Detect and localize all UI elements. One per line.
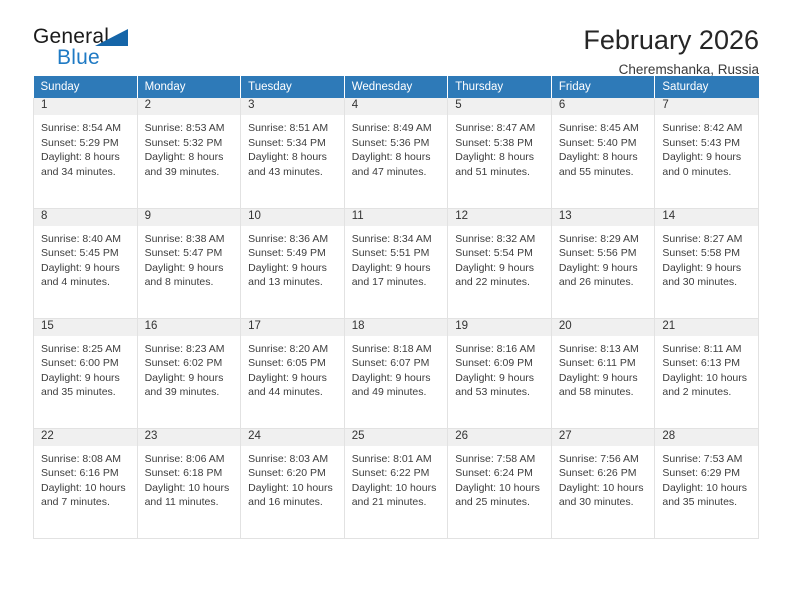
- daylight-text-line2: and 4 minutes.: [41, 275, 130, 290]
- sunset-text: Sunset: 6:18 PM: [145, 466, 234, 481]
- sunset-text: Sunset: 6:11 PM: [559, 356, 648, 371]
- sunrise-text: Sunrise: 8:40 AM: [41, 232, 130, 247]
- daylight-text-line2: and 7 minutes.: [41, 495, 130, 510]
- title-block: February 2026 Cheremshanka, Russia: [583, 26, 759, 77]
- day-number: 23: [138, 429, 241, 446]
- daylight-text-line1: Daylight: 9 hours: [559, 371, 648, 386]
- day-number: 3: [241, 98, 344, 115]
- day-cell[interactable]: 15 Sunrise: 8:25 AM Sunset: 6:00 PM Dayl…: [34, 318, 138, 428]
- sunrise-text: Sunrise: 7:56 AM: [559, 452, 648, 467]
- sunset-text: Sunset: 6:29 PM: [662, 466, 751, 481]
- day-details: Sunrise: 8:51 AM Sunset: 5:34 PM Dayligh…: [241, 115, 344, 179]
- daylight-text-line2: and 35 minutes.: [662, 495, 751, 510]
- day-number: 9: [138, 209, 241, 226]
- weekday-header-tuesday: Tuesday: [241, 76, 345, 98]
- day-number: 14: [655, 209, 758, 226]
- day-number: 10: [241, 209, 344, 226]
- day-details: Sunrise: 8:23 AM Sunset: 6:02 PM Dayligh…: [138, 336, 241, 400]
- sunset-text: Sunset: 6:22 PM: [352, 466, 441, 481]
- day-number: 25: [345, 429, 448, 446]
- daylight-text-line2: and 11 minutes.: [145, 495, 234, 510]
- daylight-text-line1: Daylight: 10 hours: [352, 481, 441, 496]
- day-cell[interactable]: 4 Sunrise: 8:49 AM Sunset: 5:36 PM Dayli…: [344, 98, 448, 208]
- day-details: Sunrise: 8:06 AM Sunset: 6:18 PM Dayligh…: [138, 446, 241, 510]
- calendar-page: General Blue February 2026 Cheremshanka,…: [0, 0, 792, 612]
- sunrise-text: Sunrise: 8:34 AM: [352, 232, 441, 247]
- sunset-text: Sunset: 5:40 PM: [559, 136, 648, 151]
- daylight-text-line2: and 44 minutes.: [248, 385, 337, 400]
- daylight-text-line1: Daylight: 8 hours: [455, 150, 544, 165]
- sunrise-text: Sunrise: 8:45 AM: [559, 121, 648, 136]
- daylight-text-line1: Daylight: 9 hours: [455, 261, 544, 276]
- daylight-text-line1: Daylight: 9 hours: [352, 261, 441, 276]
- calendar-week-row: 1 Sunrise: 8:54 AM Sunset: 5:29 PM Dayli…: [34, 98, 759, 208]
- logo-text-blue: Blue: [57, 47, 100, 68]
- sunrise-text: Sunrise: 8:42 AM: [662, 121, 751, 136]
- sunrise-text: Sunrise: 8:51 AM: [248, 121, 337, 136]
- general-blue-logo[interactable]: General Blue: [33, 26, 153, 72]
- day-cell[interactable]: 13 Sunrise: 8:29 AM Sunset: 5:56 PM Dayl…: [551, 208, 655, 318]
- sunset-text: Sunset: 6:26 PM: [559, 466, 648, 481]
- day-cell[interactable]: 21 Sunrise: 8:11 AM Sunset: 6:13 PM Dayl…: [655, 318, 759, 428]
- day-number: 15: [34, 319, 137, 336]
- daylight-text-line2: and 13 minutes.: [248, 275, 337, 290]
- sunset-text: Sunset: 5:29 PM: [41, 136, 130, 151]
- daylight-text-line1: Daylight: 8 hours: [145, 150, 234, 165]
- sunrise-text: Sunrise: 8:53 AM: [145, 121, 234, 136]
- page-title: February 2026: [583, 26, 759, 56]
- sunset-text: Sunset: 6:24 PM: [455, 466, 544, 481]
- day-number: 20: [552, 319, 655, 336]
- daylight-text-line2: and 53 minutes.: [455, 385, 544, 400]
- sunset-text: Sunset: 6:16 PM: [41, 466, 130, 481]
- daylight-text-line1: Daylight: 10 hours: [559, 481, 648, 496]
- weekday-header-monday: Monday: [137, 76, 241, 98]
- sunrise-text: Sunrise: 8:06 AM: [145, 452, 234, 467]
- weekday-header-saturday: Saturday: [655, 76, 759, 98]
- calendar-week-row: 22 Sunrise: 8:08 AM Sunset: 6:16 PM Dayl…: [34, 428, 759, 538]
- day-cell[interactable]: 23 Sunrise: 8:06 AM Sunset: 6:18 PM Dayl…: [137, 428, 241, 538]
- weekday-header-thursday: Thursday: [448, 76, 552, 98]
- day-number: 22: [34, 429, 137, 446]
- weekday-header-row: Sunday Monday Tuesday Wednesday Thursday…: [34, 76, 759, 98]
- day-number: 16: [138, 319, 241, 336]
- sunrise-text: Sunrise: 8:36 AM: [248, 232, 337, 247]
- daylight-text-line2: and 17 minutes.: [352, 275, 441, 290]
- daylight-text-line2: and 21 minutes.: [352, 495, 441, 510]
- sunset-text: Sunset: 6:07 PM: [352, 356, 441, 371]
- daylight-text-line1: Daylight: 9 hours: [662, 150, 751, 165]
- day-details: Sunrise: 8:54 AM Sunset: 5:29 PM Dayligh…: [34, 115, 137, 179]
- day-number: 1: [34, 98, 137, 115]
- daylight-text-line2: and 51 minutes.: [455, 165, 544, 180]
- sunrise-text: Sunrise: 8:03 AM: [248, 452, 337, 467]
- day-details: Sunrise: 8:11 AM Sunset: 6:13 PM Dayligh…: [655, 336, 758, 400]
- sunrise-text: Sunrise: 8:29 AM: [559, 232, 648, 247]
- sunrise-text: Sunrise: 8:18 AM: [352, 342, 441, 357]
- sunset-text: Sunset: 5:58 PM: [662, 246, 751, 261]
- daylight-text-line1: Daylight: 10 hours: [248, 481, 337, 496]
- day-details: Sunrise: 8:29 AM Sunset: 5:56 PM Dayligh…: [552, 226, 655, 290]
- sunrise-text: Sunrise: 8:49 AM: [352, 121, 441, 136]
- day-number: 6: [552, 98, 655, 115]
- day-details: Sunrise: 8:47 AM Sunset: 5:38 PM Dayligh…: [448, 115, 551, 179]
- daylight-text-line1: Daylight: 9 hours: [248, 371, 337, 386]
- day-cell[interactable]: 22 Sunrise: 8:08 AM Sunset: 6:16 PM Dayl…: [34, 428, 138, 538]
- daylight-text-line2: and 39 minutes.: [145, 165, 234, 180]
- sunrise-text: Sunrise: 8:38 AM: [145, 232, 234, 247]
- weekday-header-wednesday: Wednesday: [344, 76, 448, 98]
- page-header: General Blue February 2026 Cheremshanka,…: [33, 0, 759, 72]
- daylight-text-line2: and 30 minutes.: [559, 495, 648, 510]
- sunrise-text: Sunrise: 8:25 AM: [41, 342, 130, 357]
- day-details: Sunrise: 8:40 AM Sunset: 5:45 PM Dayligh…: [34, 226, 137, 290]
- day-cell[interactable]: 16 Sunrise: 8:23 AM Sunset: 6:02 PM Dayl…: [137, 318, 241, 428]
- day-details: Sunrise: 8:13 AM Sunset: 6:11 PM Dayligh…: [552, 336, 655, 400]
- day-number: 17: [241, 319, 344, 336]
- day-cell[interactable]: 27 Sunrise: 7:56 AM Sunset: 6:26 PM Dayl…: [551, 428, 655, 538]
- sunset-text: Sunset: 6:20 PM: [248, 466, 337, 481]
- daylight-text-line2: and 34 minutes.: [41, 165, 130, 180]
- day-number: 5: [448, 98, 551, 115]
- sunrise-text: Sunrise: 8:47 AM: [455, 121, 544, 136]
- day-cell[interactable]: 8 Sunrise: 8:40 AM Sunset: 5:45 PM Dayli…: [34, 208, 138, 318]
- sunset-text: Sunset: 5:43 PM: [662, 136, 751, 151]
- sunset-text: Sunset: 5:51 PM: [352, 246, 441, 261]
- day-details: Sunrise: 8:18 AM Sunset: 6:07 PM Dayligh…: [345, 336, 448, 400]
- day-cell[interactable]: 9 Sunrise: 8:38 AM Sunset: 5:47 PM Dayli…: [137, 208, 241, 318]
- sunset-text: Sunset: 6:09 PM: [455, 356, 544, 371]
- sunset-text: Sunset: 5:45 PM: [41, 246, 130, 261]
- day-cell[interactable]: 17 Sunrise: 8:20 AM Sunset: 6:05 PM Dayl…: [241, 318, 345, 428]
- sunset-text: Sunset: 5:32 PM: [145, 136, 234, 151]
- sunrise-text: Sunrise: 8:23 AM: [145, 342, 234, 357]
- daylight-text-line2: and 8 minutes.: [145, 275, 234, 290]
- daylight-text-line2: and 58 minutes.: [559, 385, 648, 400]
- sunset-text: Sunset: 6:13 PM: [662, 356, 751, 371]
- day-details: Sunrise: 8:34 AM Sunset: 5:51 PM Dayligh…: [345, 226, 448, 290]
- day-cell[interactable]: 18 Sunrise: 8:18 AM Sunset: 6:07 PM Dayl…: [344, 318, 448, 428]
- sunset-text: Sunset: 5:54 PM: [455, 246, 544, 261]
- calendar-body: 1 Sunrise: 8:54 AM Sunset: 5:29 PM Dayli…: [34, 98, 759, 538]
- sunrise-text: Sunrise: 8:32 AM: [455, 232, 544, 247]
- daylight-text-line1: Daylight: 9 hours: [455, 371, 544, 386]
- day-number: 8: [34, 209, 137, 226]
- day-number: 27: [552, 429, 655, 446]
- logo-triangle-icon: [95, 29, 128, 46]
- daylight-text-line1: Daylight: 9 hours: [662, 261, 751, 276]
- sunset-text: Sunset: 5:36 PM: [352, 136, 441, 151]
- day-details: Sunrise: 8:53 AM Sunset: 5:32 PM Dayligh…: [138, 115, 241, 179]
- day-details: Sunrise: 8:38 AM Sunset: 5:47 PM Dayligh…: [138, 226, 241, 290]
- day-number: 12: [448, 209, 551, 226]
- day-number: 24: [241, 429, 344, 446]
- day-cell[interactable]: 26 Sunrise: 7:58 AM Sunset: 6:24 PM Dayl…: [448, 428, 552, 538]
- sunrise-text: Sunrise: 7:58 AM: [455, 452, 544, 467]
- daylight-text-line2: and 25 minutes.: [455, 495, 544, 510]
- sunrise-text: Sunrise: 7:53 AM: [662, 452, 751, 467]
- day-number: 13: [552, 209, 655, 226]
- sunset-text: Sunset: 5:49 PM: [248, 246, 337, 261]
- day-number: 28: [655, 429, 758, 446]
- daylight-text-line2: and 0 minutes.: [662, 165, 751, 180]
- daylight-text-line2: and 49 minutes.: [352, 385, 441, 400]
- daylight-text-line1: Daylight: 9 hours: [145, 261, 234, 276]
- calendar-week-row: 8 Sunrise: 8:40 AM Sunset: 5:45 PM Dayli…: [34, 208, 759, 318]
- daylight-text-line1: Daylight: 9 hours: [248, 261, 337, 276]
- sunrise-text: Sunrise: 8:01 AM: [352, 452, 441, 467]
- day-cell[interactable]: 20 Sunrise: 8:13 AM Sunset: 6:11 PM Dayl…: [551, 318, 655, 428]
- day-cell[interactable]: 5 Sunrise: 8:47 AM Sunset: 5:38 PM Dayli…: [448, 98, 552, 208]
- day-number: 4: [345, 98, 448, 115]
- sunrise-text: Sunrise: 8:54 AM: [41, 121, 130, 136]
- sunrise-text: Sunrise: 8:27 AM: [662, 232, 751, 247]
- weekday-header-friday: Friday: [551, 76, 655, 98]
- day-cell[interactable]: 6 Sunrise: 8:45 AM Sunset: 5:40 PM Dayli…: [551, 98, 655, 208]
- daylight-text-line2: and 26 minutes.: [559, 275, 648, 290]
- daylight-text-line1: Daylight: 8 hours: [352, 150, 441, 165]
- daylight-text-line1: Daylight: 10 hours: [41, 481, 130, 496]
- location-subtitle: Cheremshanka, Russia: [583, 62, 759, 77]
- day-cell[interactable]: 28 Sunrise: 7:53 AM Sunset: 6:29 PM Dayl…: [655, 428, 759, 538]
- sunrise-text: Sunrise: 8:08 AM: [41, 452, 130, 467]
- sunset-text: Sunset: 6:00 PM: [41, 356, 130, 371]
- daylight-text-line2: and 55 minutes.: [559, 165, 648, 180]
- sunrise-text: Sunrise: 8:13 AM: [559, 342, 648, 357]
- day-details: Sunrise: 8:20 AM Sunset: 6:05 PM Dayligh…: [241, 336, 344, 400]
- daylight-text-line2: and 43 minutes.: [248, 165, 337, 180]
- day-details: Sunrise: 8:25 AM Sunset: 6:00 PM Dayligh…: [34, 336, 137, 400]
- daylight-text-line1: Daylight: 10 hours: [145, 481, 234, 496]
- daylight-text-line1: Daylight: 8 hours: [559, 150, 648, 165]
- daylight-text-line2: and 16 minutes.: [248, 495, 337, 510]
- calendar-week-row: 15 Sunrise: 8:25 AM Sunset: 6:00 PM Dayl…: [34, 318, 759, 428]
- daylight-text-line1: Daylight: 10 hours: [662, 481, 751, 496]
- sunrise-sunset-calendar: Sunday Monday Tuesday Wednesday Thursday…: [33, 76, 759, 539]
- daylight-text-line2: and 2 minutes.: [662, 385, 751, 400]
- sunrise-text: Sunrise: 8:11 AM: [662, 342, 751, 357]
- day-number: 26: [448, 429, 551, 446]
- sunset-text: Sunset: 5:38 PM: [455, 136, 544, 151]
- day-details: Sunrise: 8:45 AM Sunset: 5:40 PM Dayligh…: [552, 115, 655, 179]
- daylight-text-line1: Daylight: 10 hours: [455, 481, 544, 496]
- day-cell[interactable]: 3 Sunrise: 8:51 AM Sunset: 5:34 PM Dayli…: [241, 98, 345, 208]
- day-cell[interactable]: 24 Sunrise: 8:03 AM Sunset: 6:20 PM Dayl…: [241, 428, 345, 538]
- sunset-text: Sunset: 6:05 PM: [248, 356, 337, 371]
- day-details: Sunrise: 8:01 AM Sunset: 6:22 PM Dayligh…: [345, 446, 448, 510]
- day-details: Sunrise: 8:27 AM Sunset: 5:58 PM Dayligh…: [655, 226, 758, 290]
- day-cell[interactable]: 12 Sunrise: 8:32 AM Sunset: 5:54 PM Dayl…: [448, 208, 552, 318]
- day-cell[interactable]: 14 Sunrise: 8:27 AM Sunset: 5:58 PM Dayl…: [655, 208, 759, 318]
- day-details: Sunrise: 8:36 AM Sunset: 5:49 PM Dayligh…: [241, 226, 344, 290]
- daylight-text-line1: Daylight: 9 hours: [559, 261, 648, 276]
- day-details: Sunrise: 8:49 AM Sunset: 5:36 PM Dayligh…: [345, 115, 448, 179]
- daylight-text-line1: Daylight: 9 hours: [145, 371, 234, 386]
- day-cell[interactable]: 19 Sunrise: 8:16 AM Sunset: 6:09 PM Dayl…: [448, 318, 552, 428]
- sunset-text: Sunset: 5:56 PM: [559, 246, 648, 261]
- day-details: Sunrise: 8:16 AM Sunset: 6:09 PM Dayligh…: [448, 336, 551, 400]
- daylight-text-line1: Daylight: 9 hours: [41, 371, 130, 386]
- daylight-text-line2: and 30 minutes.: [662, 275, 751, 290]
- day-number: 18: [345, 319, 448, 336]
- day-number: 11: [345, 209, 448, 226]
- day-details: Sunrise: 8:32 AM Sunset: 5:54 PM Dayligh…: [448, 226, 551, 290]
- day-details: Sunrise: 7:56 AM Sunset: 6:26 PM Dayligh…: [552, 446, 655, 510]
- sunset-text: Sunset: 6:02 PM: [145, 356, 234, 371]
- day-cell[interactable]: 10 Sunrise: 8:36 AM Sunset: 5:49 PM Dayl…: [241, 208, 345, 318]
- daylight-text-line2: and 47 minutes.: [352, 165, 441, 180]
- daylight-text-line2: and 35 minutes.: [41, 385, 130, 400]
- daylight-text-line2: and 39 minutes.: [145, 385, 234, 400]
- day-cell[interactable]: 11 Sunrise: 8:34 AM Sunset: 5:51 PM Dayl…: [344, 208, 448, 318]
- weekday-header-sunday: Sunday: [34, 76, 138, 98]
- day-number: 7: [655, 98, 758, 115]
- day-cell[interactable]: 2 Sunrise: 8:53 AM Sunset: 5:32 PM Dayli…: [137, 98, 241, 208]
- day-details: Sunrise: 7:58 AM Sunset: 6:24 PM Dayligh…: [448, 446, 551, 510]
- sunrise-text: Sunrise: 8:16 AM: [455, 342, 544, 357]
- day-details: Sunrise: 7:53 AM Sunset: 6:29 PM Dayligh…: [655, 446, 758, 510]
- day-details: Sunrise: 8:42 AM Sunset: 5:43 PM Dayligh…: [655, 115, 758, 179]
- day-cell[interactable]: 1 Sunrise: 8:54 AM Sunset: 5:29 PM Dayli…: [34, 98, 138, 208]
- daylight-text-line1: Daylight: 9 hours: [352, 371, 441, 386]
- day-cell[interactable]: 7 Sunrise: 8:42 AM Sunset: 5:43 PM Dayli…: [655, 98, 759, 208]
- day-cell[interactable]: 25 Sunrise: 8:01 AM Sunset: 6:22 PM Dayl…: [344, 428, 448, 538]
- daylight-text-line1: Daylight: 10 hours: [662, 371, 751, 386]
- day-number: 2: [138, 98, 241, 115]
- daylight-text-line1: Daylight: 8 hours: [248, 150, 337, 165]
- day-number: 21: [655, 319, 758, 336]
- day-details: Sunrise: 8:03 AM Sunset: 6:20 PM Dayligh…: [241, 446, 344, 510]
- sunrise-text: Sunrise: 8:20 AM: [248, 342, 337, 357]
- daylight-text-line1: Daylight: 8 hours: [41, 150, 130, 165]
- day-number: 19: [448, 319, 551, 336]
- day-details: Sunrise: 8:08 AM Sunset: 6:16 PM Dayligh…: [34, 446, 137, 510]
- daylight-text-line2: and 22 minutes.: [455, 275, 544, 290]
- sunset-text: Sunset: 5:47 PM: [145, 246, 234, 261]
- daylight-text-line1: Daylight: 9 hours: [41, 261, 130, 276]
- sunset-text: Sunset: 5:34 PM: [248, 136, 337, 151]
